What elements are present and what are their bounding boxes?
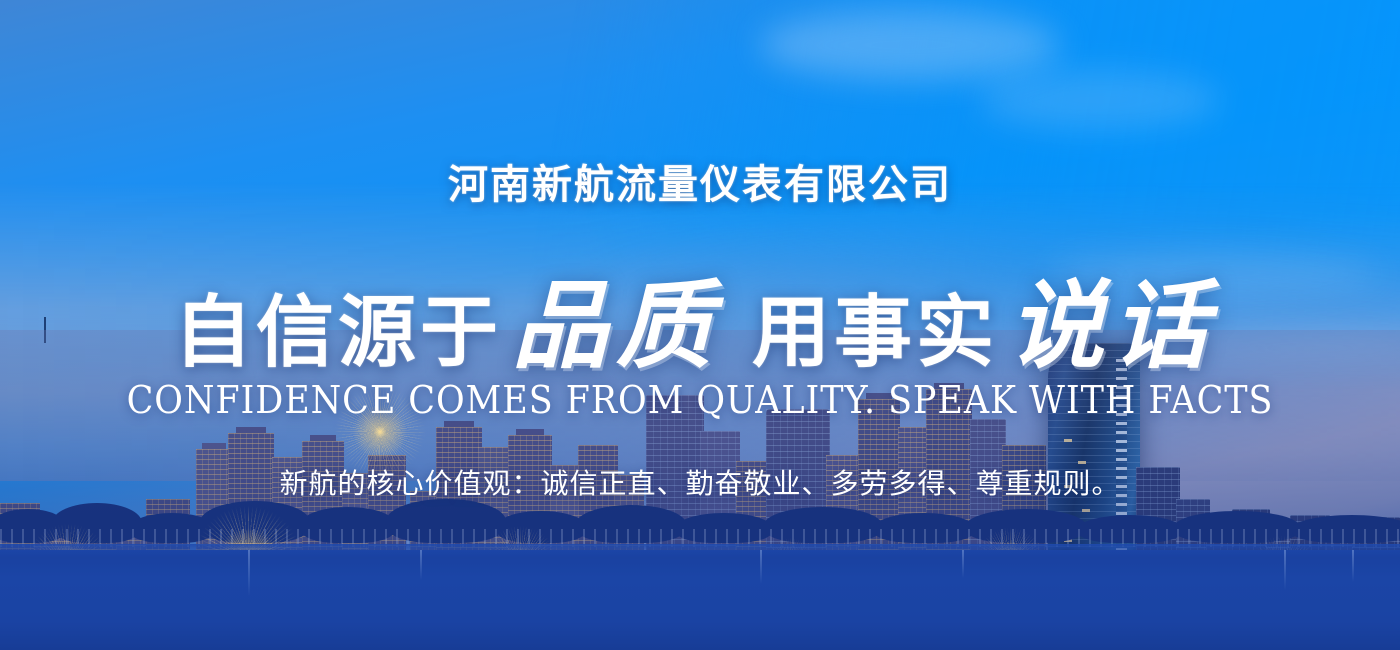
- water-reflection: [420, 550, 422, 580]
- english-subtitle: CONFIDENCE COMES FROM QUALITY. SPEAK WIT…: [56, 378, 1344, 422]
- water-reflection: [962, 550, 964, 578]
- tagline: 新航的核心价值观：诚信正直、勤奋敬业、多劳多得、尊重规则。: [0, 462, 1400, 502]
- water-reflection: [760, 550, 762, 584]
- headline-part-1: 自信源于: [174, 270, 502, 382]
- cloud-wisp: [980, 70, 1220, 130]
- tower-window-light: [1064, 439, 1072, 442]
- headline: 自信源于 品质 用事实 说话: [0, 256, 1400, 387]
- headline-brush-speak: 说话: [998, 248, 1226, 387]
- hero-banner: 河南新航流量仪表有限公司 自信源于 品质 用事实 说话 CONFIDENCE C…: [0, 0, 1400, 650]
- headline-brush-quality: 品质: [502, 248, 730, 387]
- water-edge: [0, 544, 1400, 558]
- water-reflection: [248, 550, 250, 596]
- company-name: 河南新航流量仪表有限公司: [0, 152, 1400, 210]
- headline-part-3: 用事实: [752, 270, 998, 382]
- cloud-wisp: [760, 10, 1060, 80]
- water-reflection: [1352, 550, 1354, 582]
- water-surface: [0, 550, 1400, 650]
- water-reflection: [1284, 550, 1286, 590]
